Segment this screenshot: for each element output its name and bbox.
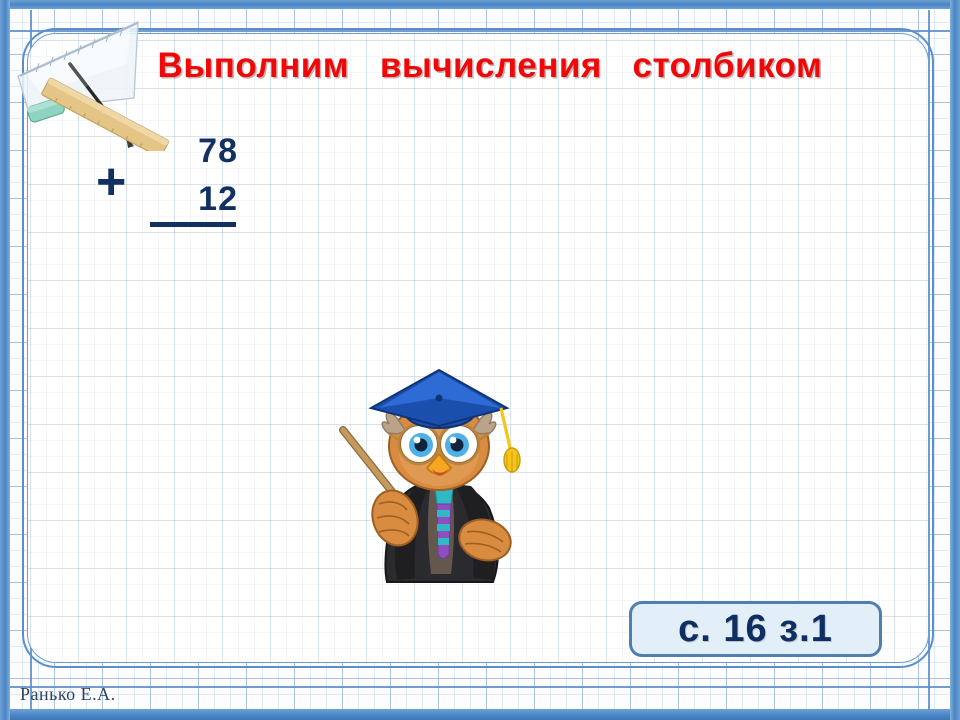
- author-signature: Ранько Е.А.: [20, 684, 116, 705]
- addend-bottom: 12: [154, 182, 238, 216]
- column-addition: + 78 12: [96, 130, 296, 245]
- border-bar-bottom: [0, 709, 960, 720]
- slide-canvas: Выполним вычисления столбиком + 78 12: [0, 0, 960, 720]
- addend-top: 78: [154, 134, 238, 168]
- plus-operator: +: [96, 156, 126, 208]
- page-title: Выполним вычисления столбиком: [0, 46, 960, 86]
- sum-rule-line: [150, 222, 236, 227]
- page-reference-badge: с. 16 з.1: [629, 601, 882, 657]
- owl-professor-clipart: [335, 368, 545, 593]
- border-bar-right: [950, 0, 960, 720]
- band-line-bottom: [10, 686, 950, 688]
